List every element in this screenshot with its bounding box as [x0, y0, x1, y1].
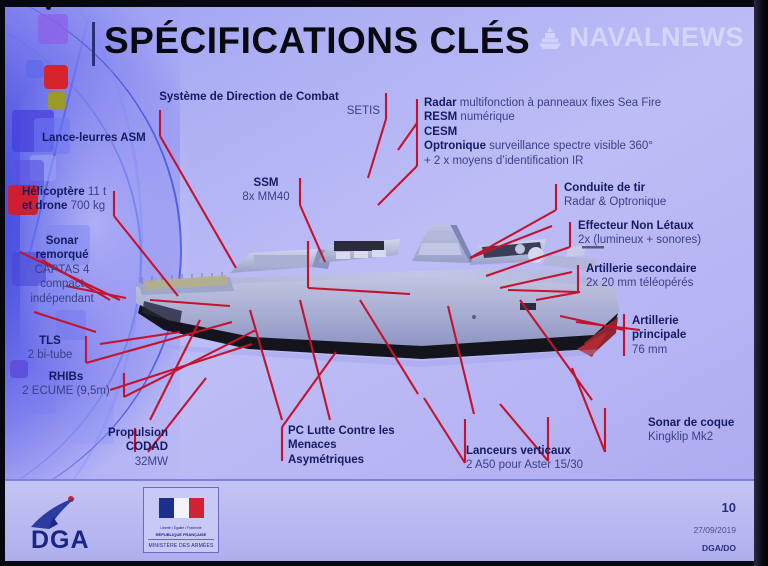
label-title: Système de Direction de Combat: [159, 91, 339, 103]
label-detail: 2 ECUME (9,5m): [14, 384, 118, 398]
dga-logo-text: DGA: [31, 526, 90, 555]
label-helicoptere-et-drone: Hélicoptère 11 t et drone 700 kg: [22, 185, 152, 214]
label-capteurs-bloc: Radar multifonction à panneaux fixes Sea…: [424, 96, 720, 168]
ministry-republic: RÉPUBLIQUE FRANÇAISE: [144, 532, 218, 537]
deco-square: [38, 14, 68, 44]
label-detail-3: indépendant: [18, 292, 106, 306]
label-title-2: remorqué: [35, 249, 88, 261]
ministry-logo: Liberté • Égalité • Fraternité RÉPUBLIQU…: [143, 487, 219, 553]
label-sonar-de-coque: Sonar de coque Kingklip Mk2: [648, 416, 768, 445]
label-title: Lance-leurres ASM: [42, 132, 146, 144]
label-title-2: CODAD: [126, 441, 168, 453]
label-detail-2: 700 kg: [67, 200, 105, 212]
label-title: PC Lutte Contre les: [288, 425, 395, 437]
label-detail-4: surveillance spectre visible 360°: [486, 140, 653, 152]
navalnews-watermark: NAVALNEWS: [537, 22, 745, 53]
label-title-3: CESM: [424, 126, 457, 138]
label-detail: 2 bi-tube: [20, 348, 80, 362]
label-ssm: SSM 8x MM40: [238, 176, 294, 205]
label-title: Effecteur Non Létaux: [578, 220, 694, 232]
slide-footer: DGA Liberté • Égalité • Fraternité RÉPUB…: [5, 479, 754, 561]
label-title-2: Menaces: [288, 439, 337, 451]
label-detail: 2x (lumineux + sonores): [578, 233, 754, 247]
title-rule: [92, 22, 95, 66]
label-detail: 2x 20 mm téléopérés: [586, 276, 762, 290]
label-title-2: et drone: [22, 200, 67, 212]
label-detail-2: compact: [18, 277, 106, 291]
label-sonar-remorque: Sonar remorqué CAPTAS 4 compact indépend…: [18, 234, 106, 306]
label-detail-2: numérique: [457, 111, 515, 123]
label-detail: 2 A50 pour Aster 15/30: [466, 458, 626, 472]
deco-square: [26, 60, 44, 78]
frigate-illustration: [122, 225, 642, 395]
label-title: Sonar: [46, 235, 79, 247]
label-rhibs: RHIBs 2 ECUME (9,5m): [14, 370, 118, 399]
label-title: Propulsion: [108, 427, 168, 439]
label-detail: multifonction à panneaux fixes Sea Fire: [457, 97, 662, 109]
label-lance-leurres-asm: Lance-leurres ASM: [42, 131, 146, 145]
deco-square-olive: [48, 92, 66, 110]
label-detail: 76 mm: [632, 343, 732, 357]
watermark-text: NAVALNEWS: [570, 22, 745, 53]
label-detail: Radar & Optronique: [564, 195, 724, 209]
label-detail-5: + 2 x moyens d’identification IR: [424, 155, 583, 167]
page-number: 10: [693, 500, 736, 515]
label-title: Hélicoptère: [22, 186, 85, 198]
label-title: Conduite de tir: [564, 182, 645, 194]
label-title: Radar: [424, 97, 457, 109]
label-title-2: RESM: [424, 111, 457, 123]
label-systeme-de-direction-de-combat: Système de Direction de Combat SETIS: [118, 90, 380, 119]
label-artillerie-principale: Artillerie principale 76 mm: [632, 314, 732, 357]
label-title: Artillerie: [632, 315, 679, 327]
label-title: Sonar de coque: [648, 417, 734, 429]
ministry-name: MINISTÈRE DES ARMÉES: [144, 542, 218, 552]
slide-org: DGA/DO: [693, 543, 736, 553]
dga-logo: DGA: [25, 493, 135, 555]
french-flag-icon: [144, 488, 218, 525]
label-lanceurs-verticaux: Lanceurs verticaux 2 A50 pour Aster 15/3…: [466, 444, 626, 473]
label-pc-lutte-contre-les-menaces-asymetriques: PC Lutte Contre les Menaces Asymétriques: [288, 424, 438, 467]
label-artillerie-secondaire: Artillerie secondaire 2x 20 mm téléopéré…: [586, 262, 762, 291]
label-title: Artillerie secondaire: [586, 263, 697, 275]
label-conduite-de-tir: Conduite de tir Radar & Optronique: [564, 181, 724, 210]
label-detail: 32MW: [104, 455, 168, 469]
label-title: TLS: [39, 335, 61, 347]
label-title: RHIBs: [49, 371, 84, 383]
label-title: SSM: [254, 177, 279, 189]
label-detail: 11 t: [85, 186, 107, 198]
presentation-slide: SPÉCIFICATIONS CLÉS NAVALNEWS: [0, 0, 768, 566]
frame-edge-bottom: [0, 561, 768, 566]
page-title: SPÉCIFICATIONS CLÉS: [104, 22, 530, 59]
ship-icon: [537, 26, 563, 50]
slide-date: 27/09/2019: [693, 525, 736, 535]
label-title-4: Optronique: [424, 140, 486, 152]
label-title: Lanceurs verticaux: [466, 445, 571, 457]
label-title-2: principale: [632, 329, 686, 341]
label-title-3: Asymétriques: [288, 454, 364, 466]
label-detail: CAPTAS 4: [18, 263, 106, 277]
label-detail: SETIS: [347, 105, 380, 117]
label-detail: 8x MM40: [238, 190, 294, 204]
ministry-motto: Liberté • Égalité • Fraternité: [144, 526, 218, 531]
deco-square-red: [44, 65, 68, 89]
label-propulsion: Propulsion CODAD 32MW: [104, 426, 168, 469]
slide-meta: 10 27/09/2019 DGA/DO: [693, 500, 736, 553]
label-effecteur-non-letaux: Effecteur Non Létaux 2x (lumineux + sono…: [578, 219, 754, 248]
label-detail: Kingklip Mk2: [648, 430, 768, 444]
label-tls: TLS 2 bi-tube: [20, 334, 80, 363]
